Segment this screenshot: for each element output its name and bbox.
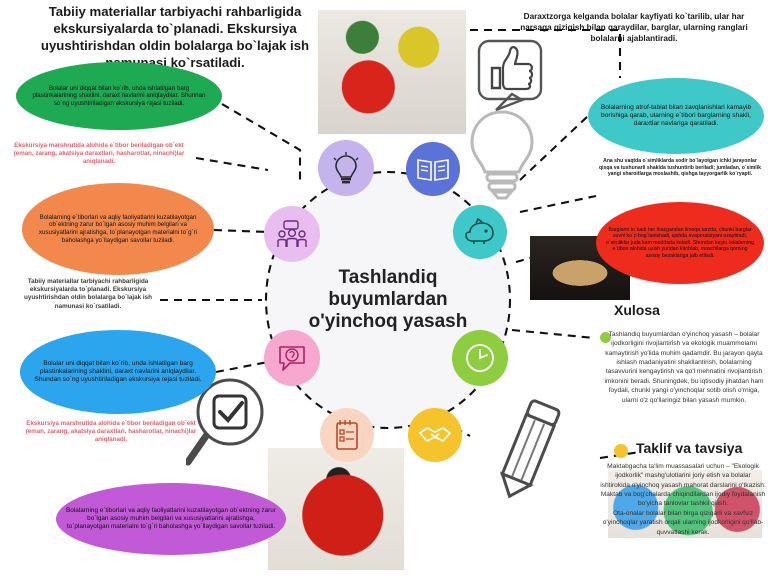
node-lightbulb[interactable] (318, 140, 374, 196)
grey-note: Tabiiy materiallar tarbiyachi rahbarligi… (16, 278, 160, 311)
ladybug-toys-photo (318, 10, 466, 134)
bubble-red-text: Barglarni to`kadi her tkazgandan ilmoqa … (596, 227, 764, 259)
xulosa-title: Xulosa (614, 302, 766, 318)
node-handshake[interactable] (408, 408, 462, 462)
bubble-green: Bolalar uni diqqat bilan ko`rib, unda is… (16, 62, 222, 130)
bubble-blue: Bolalar uni diqqat bilan ko`rib, unda is… (20, 330, 216, 414)
bubble-blue-text: Bolalar uni diqqat bilan ko`rib, unda is… (20, 360, 216, 384)
node-book[interactable] (406, 142, 460, 196)
poster-canvas: Tabiiy materiallar tarbiyachi rahbarligi… (0, 0, 768, 576)
node-people[interactable] (264, 206, 320, 262)
open-book-icon (416, 156, 450, 182)
people-group-icon (276, 219, 308, 249)
question-bubble-icon (276, 343, 308, 373)
bubble-red: Barglarni to`kadi her tkazgandan ilmoqa … (596, 202, 764, 284)
page-title: Tabiiy materiallar tarbiyachi rahbarligi… (40, 4, 310, 72)
bubble-purple: Bolalarning e`tiborlari va aqliy faoliya… (56, 483, 286, 555)
center-title: Tashlandiq buyumlardan o'yinchoq yasash (293, 267, 483, 333)
bubble-purple-text: Bolalarning e`tiborlari va aqliy faoliya… (56, 507, 286, 530)
bubble-orange-text: Bolalarning e`tiborlari va aqliy faoliya… (22, 214, 214, 244)
bubble-teal-text: Bolalarning atrof-tabiat bilan zavqlanis… (588, 104, 764, 128)
node-piggybank[interactable] (453, 205, 507, 259)
xulosa-section: Xulosa (600, 302, 766, 318)
lightbulb-icon (331, 152, 361, 184)
center-hub: Tashlandiq buyumlardan o'yinchoq yasash (238, 150, 538, 450)
bubble-teal: Bolalarning atrof-tabiat bilan zavqlanis… (588, 78, 764, 154)
node-checklist[interactable] (320, 408, 374, 462)
taklif-body: Maktabgacha ta'lim muassasalari uchun – … (600, 462, 766, 537)
checklist-icon (334, 419, 360, 451)
handshake-icon (418, 423, 452, 447)
pink-note-2: Ekskursiya marshrutida alohida e`tibor b… (16, 420, 206, 444)
xulosa-body: Tashlandiq buyumlardan o'yinchoq yasash … (604, 330, 764, 405)
bubble-orange: Bolalarning e`tiborlari va aqliy faoliya… (22, 183, 214, 275)
node-question[interactable] (264, 330, 320, 386)
piggy-bank-icon (464, 218, 496, 246)
bubble-green-text: Bolalar uni diqqat bilan ko`rib, unda is… (16, 85, 222, 108)
taklif-bullet (614, 444, 628, 458)
ladybug-toy-photo (268, 448, 404, 570)
clock-icon (464, 342, 496, 374)
taklif-title: Taklif va tavsiya (636, 440, 742, 456)
right-small-note: Ana shu vaqtda o`simliklarda sodir bo`la… (596, 158, 764, 178)
pink-note-1: Ekskursiya marshrutida alohida e`tibor b… (4, 142, 194, 166)
node-clock[interactable] (452, 330, 508, 386)
